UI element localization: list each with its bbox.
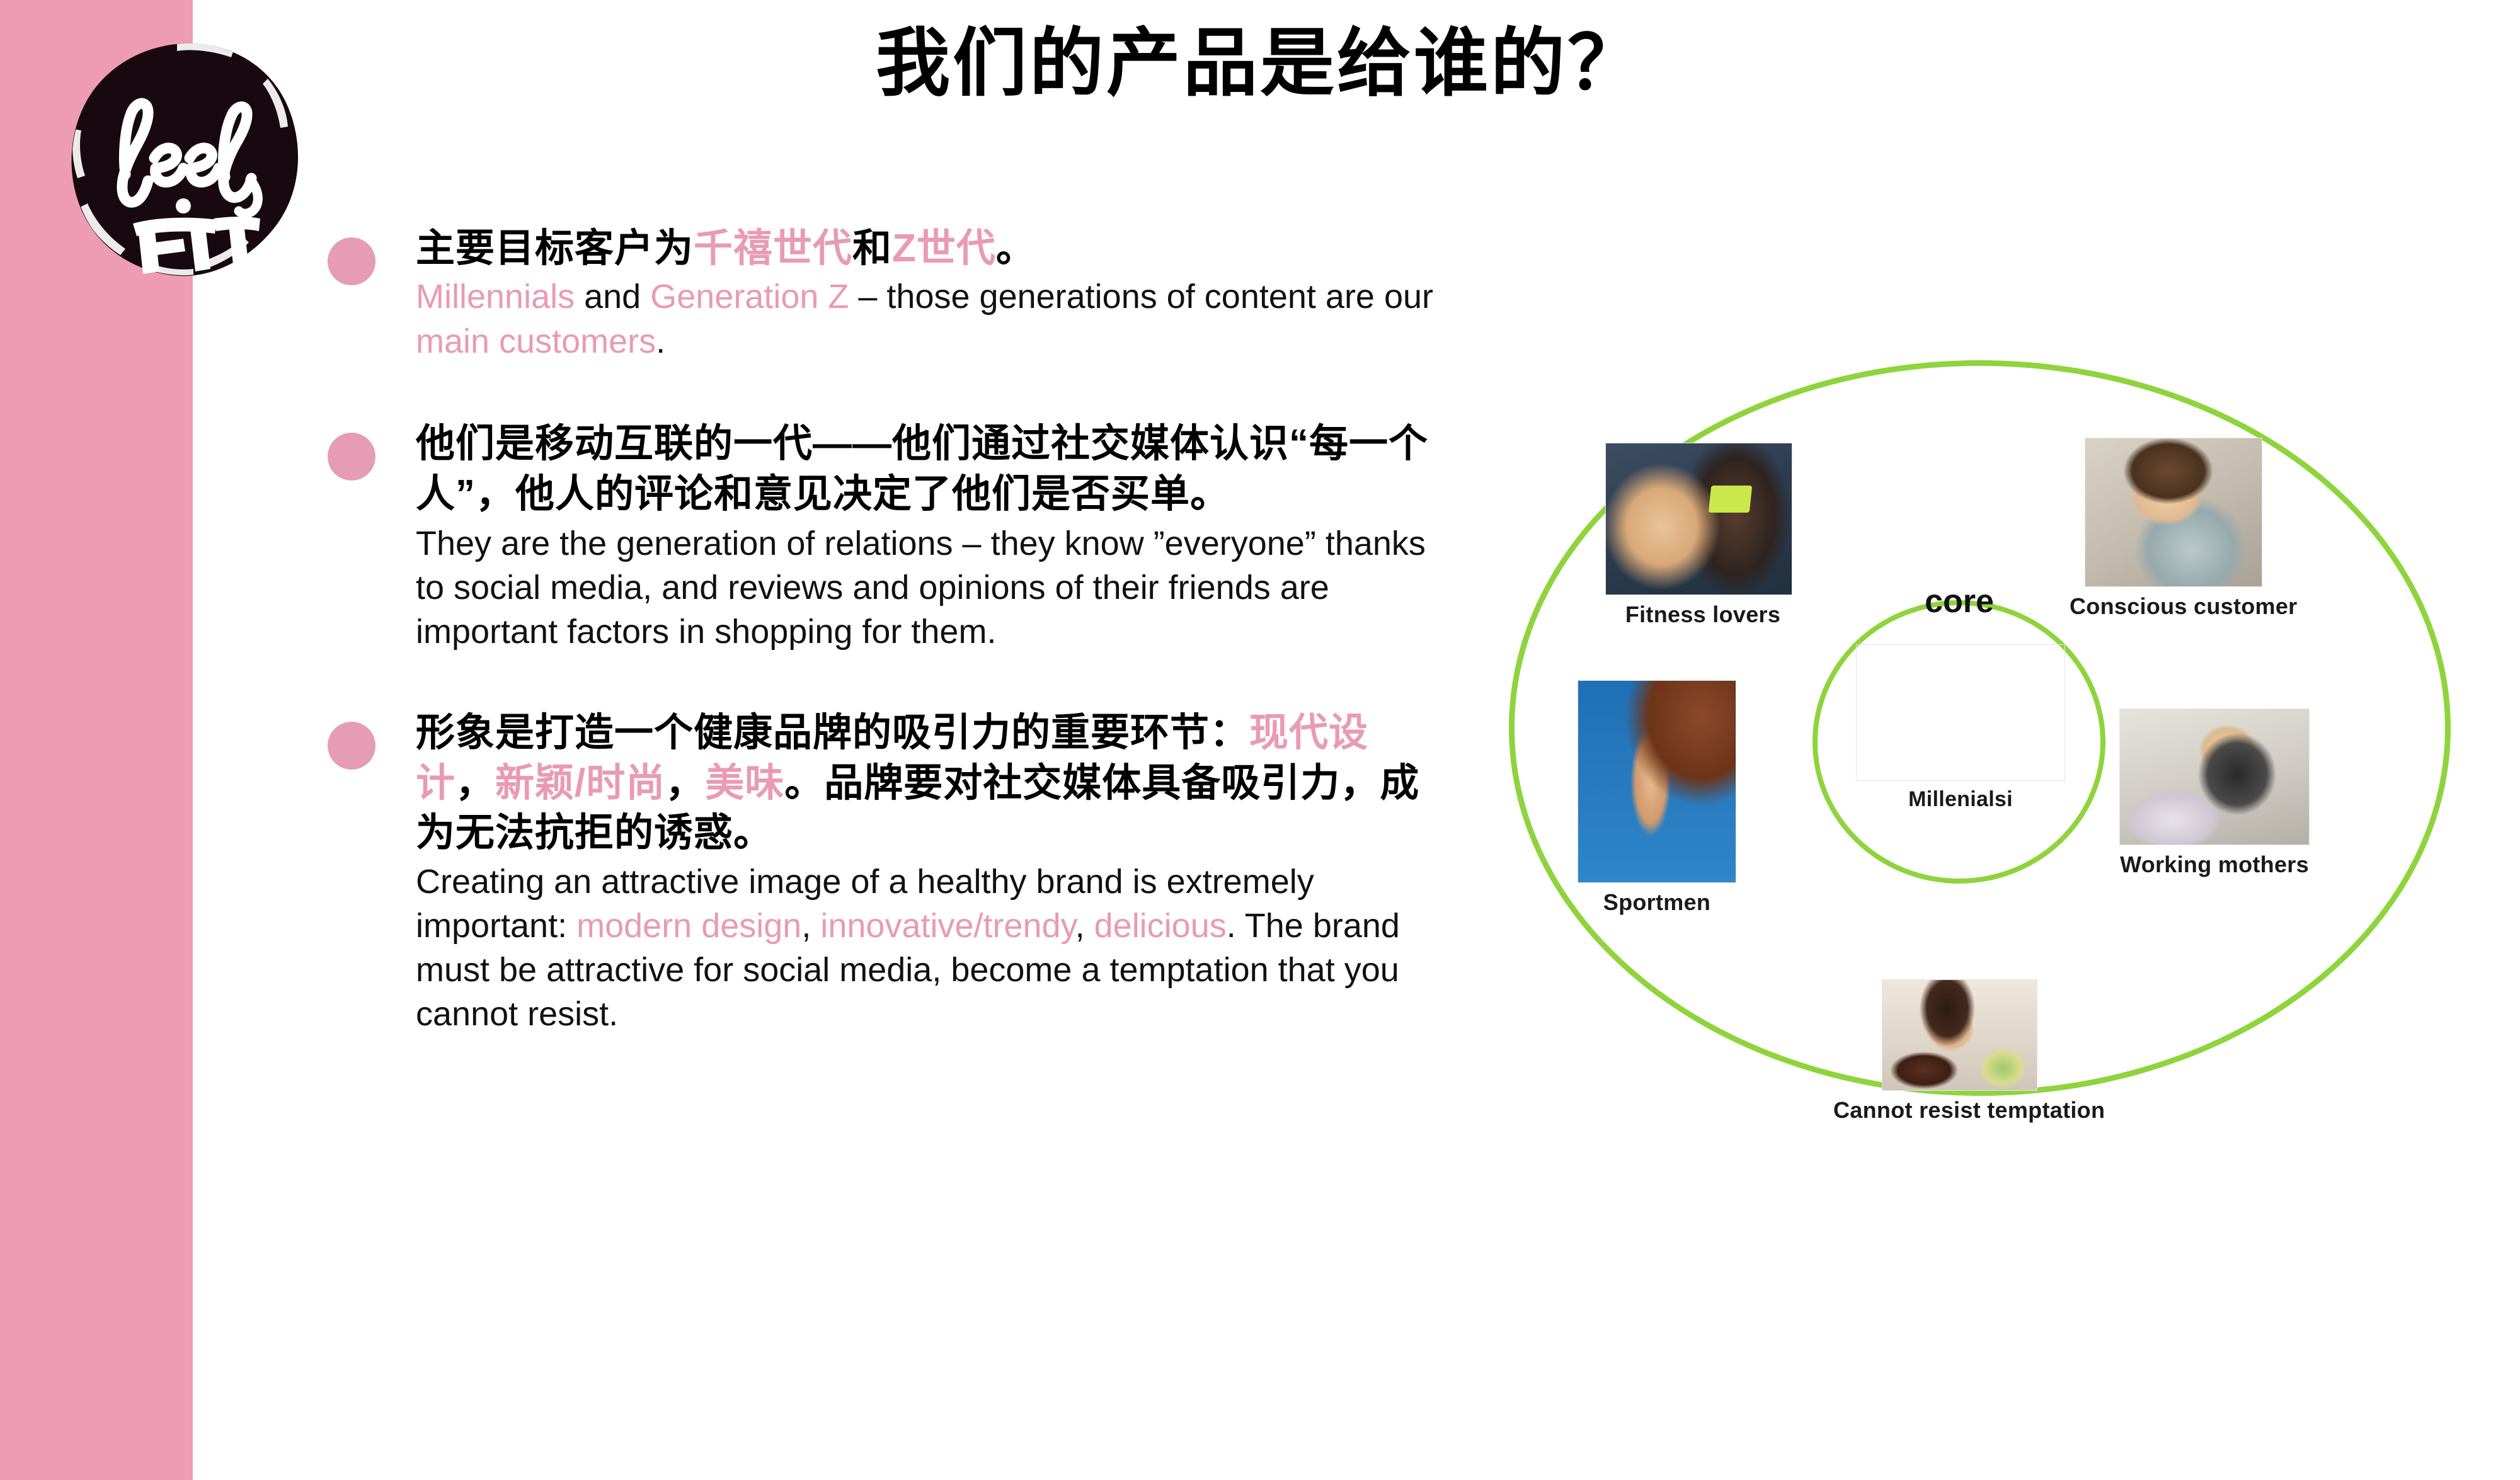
body-text: ， bbox=[455, 761, 495, 805]
feel-fit-logo bbox=[60, 35, 312, 287]
body-text: and bbox=[575, 278, 650, 316]
highlight-text: Z世代 bbox=[892, 227, 996, 270]
conscious-customer-label: Conscious customer bbox=[2070, 593, 2277, 620]
sportmen-label: Sportmen bbox=[1566, 889, 1748, 916]
highlight-text: 千禧世代 bbox=[694, 227, 852, 270]
segment-working-mothers: Working mothers bbox=[2107, 709, 2322, 878]
bullet-1-chinese: 主要目标客户为千禧世代和Z世代。 bbox=[416, 224, 1436, 273]
millenials-photo bbox=[1856, 644, 2065, 781]
bullet-item-2: 他们是移动互联的一代——他们通过社交媒体认识“每一个人”，他人的评论和意见决定了… bbox=[328, 419, 1436, 654]
highlight-text: main customers bbox=[416, 322, 656, 360]
body-text: , bbox=[801, 907, 820, 945]
highlight-text: Generation Z bbox=[650, 278, 849, 316]
bullet-dot-icon bbox=[328, 237, 375, 285]
millenials-label: Millenialsi bbox=[1835, 787, 2087, 812]
sportmen-photo bbox=[1578, 680, 1736, 883]
bullet-item-3: 形象是打造一个健康品牌的吸引力的重要环节：现代设计，新颖/时尚，美味。品牌要对社… bbox=[328, 708, 1436, 1036]
working-mothers-label: Working mothers bbox=[2107, 851, 2322, 878]
body-text: 他们是移动互联的一代——他们通过社交媒体认识“每一个人”，他人的评论和意见决定了… bbox=[416, 422, 1428, 516]
bullet-dot-icon bbox=[328, 433, 375, 481]
highlight-text: modern design bbox=[576, 907, 801, 945]
highlight-text: 美味 bbox=[705, 761, 784, 805]
body-text: – those generations of content are our bbox=[849, 278, 1433, 316]
body-text: ， bbox=[665, 761, 705, 805]
working-mothers-photo bbox=[2119, 709, 2310, 845]
segment-millenials-core: Millenialsi bbox=[1835, 644, 2087, 812]
bullet-item-1: 主要目标客户为千禧世代和Z世代。 Millennials and Generat… bbox=[328, 224, 1436, 363]
bullet-3-chinese: 形象是打造一个健康品牌的吸引力的重要环节：现代设计，新颖/时尚，美味。品牌要对社… bbox=[416, 708, 1436, 858]
highlight-text: 新颖/时尚 bbox=[495, 761, 665, 805]
bullet-1-english: Millennials and Generation Z – those gen… bbox=[416, 275, 1436, 363]
highlight-text: delicious bbox=[1094, 907, 1227, 945]
conscious-customer-photo bbox=[2085, 438, 2262, 587]
bullet-list: 主要目标客户为千禧世代和Z世代。 Millennials and Generat… bbox=[328, 224, 1436, 1078]
highlight-text: Millennials bbox=[416, 278, 575, 316]
bullet-3-english: Creating an attractive image of a health… bbox=[416, 860, 1436, 1037]
fitness-lovers-photo bbox=[1605, 443, 1792, 595]
bullet-dot-icon bbox=[328, 722, 375, 770]
body-text: . bbox=[656, 322, 665, 360]
bullet-2-english: They are the generation of relations – t… bbox=[416, 521, 1436, 654]
page-title: 我们的产品是给谁的？ bbox=[378, 25, 2142, 103]
core-label: core bbox=[1852, 583, 2066, 620]
body-text: 形象是打造一个健康品牌的吸引力的重要环节： bbox=[416, 711, 1249, 754]
temptation-label: Cannot resist temptation bbox=[1833, 1097, 2085, 1124]
body-text: 和 bbox=[852, 227, 892, 270]
body-text: They are the generation of relations – t… bbox=[416, 525, 1426, 651]
segment-fitness-lovers: Fitness lovers bbox=[1605, 443, 1801, 628]
temptation-photo bbox=[1882, 979, 2037, 1091]
body-text: 。 bbox=[996, 227, 1036, 270]
bullet-2-chinese: 他们是移动互联的一代——他们通过社交媒体认识“每一个人”，他人的评论和意见决定了… bbox=[416, 419, 1436, 520]
body-text: , bbox=[1075, 907, 1094, 945]
segment-sportmen: Sportmen bbox=[1566, 680, 1748, 916]
segment-cannot-resist-temptation: Cannot resist temptation bbox=[1833, 979, 2085, 1124]
fitness-lovers-label: Fitness lovers bbox=[1605, 601, 1801, 628]
audience-segments-diagram: core Fitness lovers Conscious customer S… bbox=[1499, 343, 2470, 1118]
segment-conscious-customer: Conscious customer bbox=[2070, 438, 2277, 620]
highlight-text: innovative/trendy bbox=[820, 907, 1075, 945]
body-text: 主要目标客户为 bbox=[416, 227, 694, 270]
